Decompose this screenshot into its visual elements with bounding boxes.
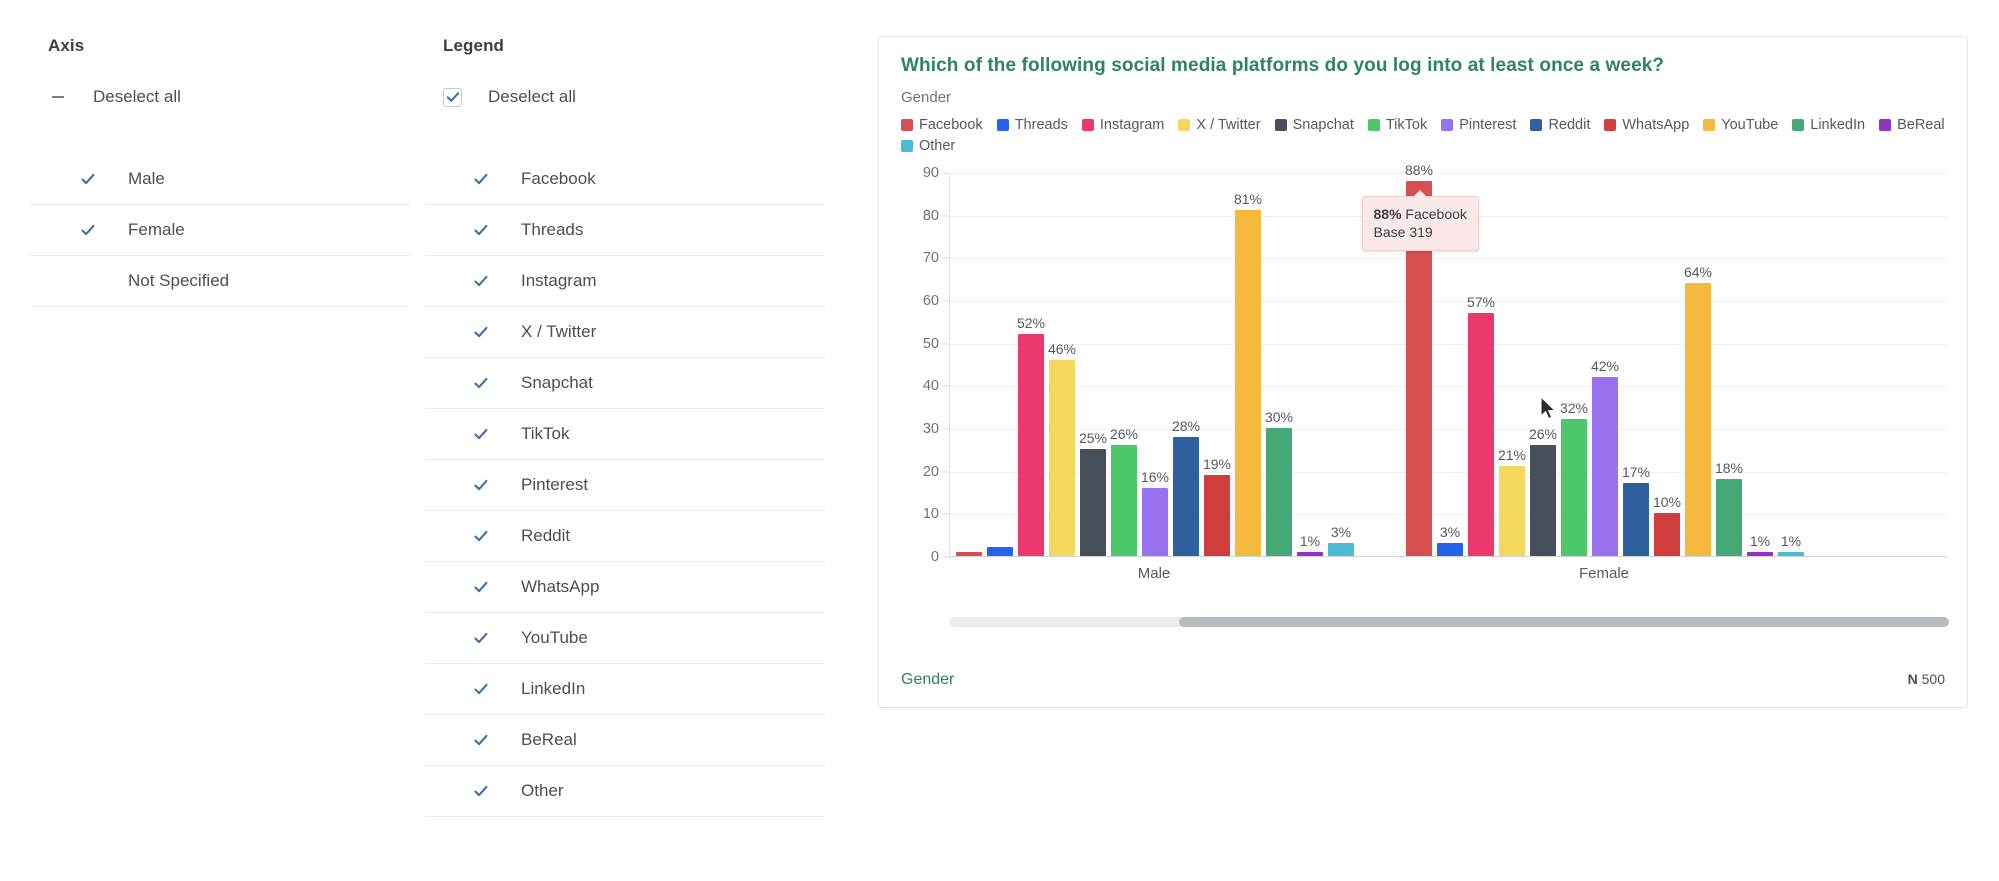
bar-rect[interactable]: 81%	[1235, 210, 1261, 556]
bar-value-label: 25%	[1079, 430, 1107, 446]
legend-swatch-icon	[1082, 119, 1094, 131]
legend-option-threads[interactable]: Threads	[425, 205, 825, 256]
bar-value-label: 26%	[1110, 426, 1138, 442]
legend-entry-instagram[interactable]: Instagram	[1082, 117, 1164, 133]
chart-footer-sample-size: N 500	[1908, 671, 1945, 687]
legend-entry-label: LinkedIn	[1810, 117, 1865, 133]
bar-male-whatsapp[interactable]: 19%	[1204, 173, 1230, 556]
y-axis-tick-label: 0	[899, 549, 939, 565]
axis-option-label: Male	[128, 169, 165, 189]
y-axis-tick-label: 40	[899, 378, 939, 394]
checkmark-icon	[473, 477, 495, 493]
bar-rect[interactable]: 21%	[1499, 466, 1525, 556]
legend-entry-label: Reddit	[1548, 117, 1590, 133]
app-root: Axis Deselect all MaleFemaleNot Specifie…	[0, 0, 1999, 881]
bar-value-label: 18%	[1715, 460, 1743, 476]
legend-entry-label: TikTok	[1386, 117, 1427, 133]
legend-option-tiktok[interactable]: TikTok	[425, 409, 825, 460]
axis-option-male[interactable]: Male	[30, 154, 410, 205]
legend-swatch-icon	[1441, 119, 1453, 131]
x-axis-label: Female	[1579, 565, 1629, 582]
legend-option-label: Pinterest	[521, 475, 588, 495]
bar-value-label: 26%	[1529, 426, 1557, 442]
legend-swatch-icon	[1703, 119, 1715, 131]
checkmark-icon	[473, 273, 495, 289]
bar-rect[interactable]: 25%	[1080, 449, 1106, 556]
bar-rect[interactable]: 30%	[1266, 428, 1292, 556]
legend-entry-facebook[interactable]: Facebook	[901, 117, 983, 133]
bar-value-label: 28%	[1172, 418, 1200, 434]
checkmark-icon	[473, 375, 495, 391]
bar-value-label: 3%	[1331, 524, 1351, 540]
bar-value-label: 32%	[1560, 400, 1588, 416]
legend-option-youtube[interactable]: YouTube	[425, 613, 825, 664]
legend-swatch-icon	[997, 119, 1009, 131]
bar-male-snapchat[interactable]: 25%	[1080, 173, 1106, 556]
bar-rect[interactable]	[956, 552, 982, 556]
sample-size-value: 500	[1922, 671, 1945, 687]
y-axis-tick-label: 70	[899, 250, 939, 266]
legend-entry-label: X / Twitter	[1196, 117, 1260, 133]
legend-entry-label: BeReal	[1897, 117, 1945, 133]
bar-male-pinterest[interactable]: 16%	[1142, 173, 1168, 556]
legend-entry-snapchat[interactable]: Snapchat	[1275, 117, 1354, 133]
y-axis-tick-label: 90	[899, 165, 939, 181]
bar-value-label: 19%	[1203, 456, 1231, 472]
checkmark-icon	[473, 681, 495, 697]
legend-entry-linkedin[interactable]: LinkedIn	[1792, 117, 1865, 133]
bar-value-label: 16%	[1141, 469, 1169, 485]
bar-value-label: 1%	[1750, 533, 1770, 549]
bar-rect[interactable]: 18%	[1716, 479, 1742, 556]
bar-rect[interactable]: 17%	[1623, 483, 1649, 556]
bar-female-youtube[interactable]: 64%	[1685, 173, 1711, 556]
axis-option-female[interactable]: Female	[30, 205, 410, 256]
bar-rect[interactable]	[987, 547, 1013, 556]
axis-baseline	[950, 556, 1947, 557]
legend-panel-title: Legend	[425, 36, 825, 56]
bar-rect[interactable]: 32%	[1561, 419, 1587, 556]
legend-filter-panel: Legend Deselect all FacebookThreadsInsta…	[425, 36, 825, 817]
bar-value-label: 3%	[1440, 524, 1460, 540]
x-axis-labels: MaleFemale	[949, 565, 1947, 587]
chart-footer-axis-label: Gender	[901, 671, 954, 689]
legend-entry-bereal[interactable]: BeReal	[1879, 117, 1945, 133]
legend-entry-youtube[interactable]: YouTube	[1703, 117, 1778, 133]
legend-option-label: Reddit	[521, 526, 570, 546]
checkbox-checked-icon[interactable]	[443, 88, 462, 107]
legend-option-label: YouTube	[521, 628, 588, 648]
legend-entry-whatsapp[interactable]: WhatsApp	[1604, 117, 1689, 133]
checkmark-icon	[473, 783, 495, 799]
legend-option-label: LinkedIn	[521, 679, 585, 699]
bar-rect[interactable]: 1%	[1778, 552, 1804, 556]
legend-entry-label: Snapchat	[1293, 117, 1354, 133]
bar-value-label: 46%	[1048, 341, 1076, 357]
legend-swatch-icon	[1792, 119, 1804, 131]
legend-deselect-all-label: Deselect all	[488, 87, 576, 107]
legend-swatch-icon	[1604, 119, 1616, 131]
bar-rect[interactable]: 28%	[1173, 437, 1199, 556]
bar-value-label: 1%	[1300, 533, 1320, 549]
legend-entry-label: Other	[919, 138, 955, 154]
bar-female-linkedin[interactable]: 18%	[1716, 173, 1742, 556]
legend-option-instagram[interactable]: Instagram	[425, 256, 825, 307]
bar-value-label: 1%	[1781, 533, 1801, 549]
tooltip-value: 88%	[1374, 206, 1402, 222]
checkmark-icon	[473, 732, 495, 748]
bar-male-reddit[interactable]: 28%	[1173, 173, 1199, 556]
checkmark-icon	[473, 528, 495, 544]
legend-entry-tiktok[interactable]: TikTok	[1368, 117, 1427, 133]
legend-option-x-twitter[interactable]: X / Twitter	[425, 307, 825, 358]
tooltip-line-1: 88% Facebook	[1374, 205, 1467, 224]
y-axis-tick-label: 50	[899, 336, 939, 352]
tooltip-arrow	[1413, 190, 1427, 197]
legend-entry-label: Instagram	[1100, 117, 1164, 133]
bar-rect[interactable]: 57%	[1468, 313, 1494, 556]
bar-rect[interactable]: 19%	[1204, 475, 1230, 556]
legend-option-label: Snapchat	[521, 373, 593, 393]
checkmark-icon	[473, 426, 495, 442]
minus-icon	[48, 88, 67, 107]
checkmark-icon	[473, 222, 495, 238]
legend-swatch-icon	[1178, 119, 1190, 131]
bar-female-other[interactable]: 1%	[1778, 173, 1804, 556]
bar-rect[interactable]: 46%	[1049, 360, 1075, 556]
legend-option-label: Threads	[521, 220, 583, 240]
bar-rect[interactable]: 26%	[1111, 445, 1137, 556]
bar-value-label: 42%	[1591, 358, 1619, 374]
axis-option-not-specified[interactable]: Not Specified	[30, 256, 410, 307]
bar-value-label: 10%	[1653, 494, 1681, 510]
bar-male-youtube[interactable]: 81%	[1235, 173, 1261, 556]
bar-male-tiktok[interactable]: 26%	[1111, 173, 1137, 556]
legend-deselect-all-row[interactable]: Deselect all	[425, 82, 825, 112]
bar-rect[interactable]: 52%	[1018, 334, 1044, 556]
bar-male-threads[interactable]	[987, 173, 1013, 556]
legend-option-label: X / Twitter	[521, 322, 596, 342]
axis-option-label: Female	[128, 220, 185, 240]
axis-option-label: Not Specified	[128, 271, 229, 291]
bar-male-x-twitter[interactable]: 46%	[1049, 173, 1075, 556]
legend-entry-other[interactable]: Other	[901, 138, 955, 154]
bar-value-label: 21%	[1498, 447, 1526, 463]
y-axis-tick-label: 10	[899, 506, 939, 522]
chart-legend: FacebookThreadsInstagramX / TwitterSnapc…	[901, 117, 1951, 154]
bar-rect[interactable]: 1%	[1297, 552, 1323, 556]
bar-male-instagram[interactable]: 52%	[1018, 173, 1044, 556]
legend-option-label: WhatsApp	[521, 577, 599, 597]
legend-entry-label: Facebook	[919, 117, 983, 133]
legend-option-label: TikTok	[521, 424, 570, 444]
bar-value-label: 57%	[1467, 294, 1495, 310]
legend-swatch-icon	[1275, 119, 1287, 131]
axis-panel-title: Axis	[30, 36, 410, 56]
bar-group-male: 52%46%25%26%16%28%19%81%30%1%3%	[956, 173, 1354, 556]
legend-swatch-icon	[1879, 119, 1891, 131]
legend-option-whatsapp[interactable]: WhatsApp	[425, 562, 825, 613]
y-axis-tick-label: 80	[899, 208, 939, 224]
bar-female-reddit[interactable]: 17%	[1623, 173, 1649, 556]
legend-option-linkedin[interactable]: LinkedIn	[425, 664, 825, 715]
horizontal-scrollbar[interactable]	[949, 617, 1949, 627]
x-axis-label: Male	[1138, 565, 1171, 582]
legend-swatch-icon	[1530, 119, 1542, 131]
y-axis-tick-label: 20	[899, 464, 939, 480]
bar-value-label: 64%	[1684, 264, 1712, 280]
legend-option-label: Facebook	[521, 169, 596, 189]
bar-rect[interactable]: 3%	[1437, 543, 1463, 556]
legend-option-label: Instagram	[521, 271, 597, 291]
checkmark-icon	[473, 171, 495, 187]
legend-entry-x-twitter[interactable]: X / Twitter	[1178, 117, 1260, 133]
bar-male-linkedin[interactable]: 30%	[1266, 173, 1292, 556]
bar-value-label: 88%	[1405, 162, 1433, 178]
y-axis-tick-label: 60	[899, 293, 939, 309]
bar-female-whatsapp[interactable]: 10%	[1654, 173, 1680, 556]
axis-filter-panel: Axis Deselect all MaleFemaleNot Specifie…	[30, 36, 410, 307]
legend-option-reddit[interactable]: Reddit	[425, 511, 825, 562]
bar-rect[interactable]: 16%	[1142, 488, 1168, 556]
legend-entry-label: YouTube	[1721, 117, 1778, 133]
legend-swatch-icon	[1368, 119, 1380, 131]
bar-tooltip: 88% Facebook Base 319	[1362, 196, 1479, 252]
bar-female-snapchat[interactable]: 26%	[1530, 173, 1556, 556]
legend-option-other[interactable]: Other	[425, 766, 825, 817]
legend-entry-pinterest[interactable]: Pinterest	[1441, 117, 1516, 133]
legend-option-snapchat[interactable]: Snapchat	[425, 358, 825, 409]
legend-option-label: BeReal	[521, 730, 577, 750]
checkmark-icon	[473, 579, 495, 595]
legend-option-pinterest[interactable]: Pinterest	[425, 460, 825, 511]
bar-rect[interactable]: 26%	[1530, 445, 1556, 556]
bar-female-tiktok[interactable]: 32%	[1561, 173, 1587, 556]
y-axis: 0102030405060708090	[901, 173, 949, 557]
checkmark-icon	[80, 171, 102, 187]
legend-option-list: FacebookThreadsInstagramX / TwitterSnapc…	[425, 154, 825, 817]
tooltip-series: Facebook	[1405, 206, 1466, 222]
bar-rect[interactable]: 10%	[1654, 513, 1680, 556]
axis-option-list: MaleFemaleNot Specified	[30, 154, 410, 307]
sample-size-prefix: N	[1908, 671, 1918, 687]
checkmark-icon	[473, 324, 495, 340]
bar-value-label: 52%	[1017, 315, 1045, 331]
legend-entry-reddit[interactable]: Reddit	[1530, 117, 1590, 133]
axis-deselect-all-label: Deselect all	[93, 87, 181, 107]
checkmark-icon	[80, 222, 102, 238]
scrollbar-thumb[interactable]	[1179, 617, 1949, 627]
legend-entry-threads[interactable]: Threads	[997, 117, 1068, 133]
tooltip-base-value: 319	[1409, 224, 1432, 240]
legend-entry-label: WhatsApp	[1622, 117, 1689, 133]
bar-rect[interactable]: 3%	[1328, 543, 1354, 556]
legend-swatch-icon	[901, 119, 913, 131]
bar-female-pinterest[interactable]: 42%	[1592, 173, 1618, 556]
bar-male-facebook[interactable]	[956, 173, 982, 556]
tooltip-base-label: Base	[1374, 224, 1406, 240]
legend-option-label: Other	[521, 781, 564, 801]
bar-value-label: 81%	[1234, 191, 1262, 207]
axis-deselect-all-row[interactable]: Deselect all	[30, 82, 410, 112]
bar-value-label: 30%	[1265, 409, 1293, 425]
chart-card: Which of the following social media plat…	[878, 36, 1968, 708]
tooltip-line-2: Base 319	[1374, 223, 1467, 242]
checkmark-icon	[473, 630, 495, 646]
bar-rect[interactable]: 64%	[1685, 283, 1711, 556]
legend-option-facebook[interactable]: Facebook	[425, 154, 825, 205]
y-axis-tick-label: 30	[899, 421, 939, 437]
bar-female-bereal[interactable]: 1%	[1747, 173, 1773, 556]
chart-question-title: Which of the following social media plat…	[901, 55, 1664, 77]
bar-rect[interactable]: 42%	[1592, 377, 1618, 556]
legend-option-bereal[interactable]: BeReal	[425, 715, 825, 766]
bar-male-other[interactable]: 3%	[1328, 173, 1354, 556]
bar-rect[interactable]: 1%	[1747, 552, 1773, 556]
bar-female-x-twitter[interactable]: 21%	[1499, 173, 1525, 556]
legend-entry-label: Threads	[1015, 117, 1068, 133]
chart-subtitle: Gender	[901, 89, 951, 106]
bar-male-bereal[interactable]: 1%	[1297, 173, 1323, 556]
bar-value-label: 17%	[1622, 464, 1650, 480]
legend-entry-label: Pinterest	[1459, 117, 1516, 133]
legend-swatch-icon	[901, 140, 913, 152]
